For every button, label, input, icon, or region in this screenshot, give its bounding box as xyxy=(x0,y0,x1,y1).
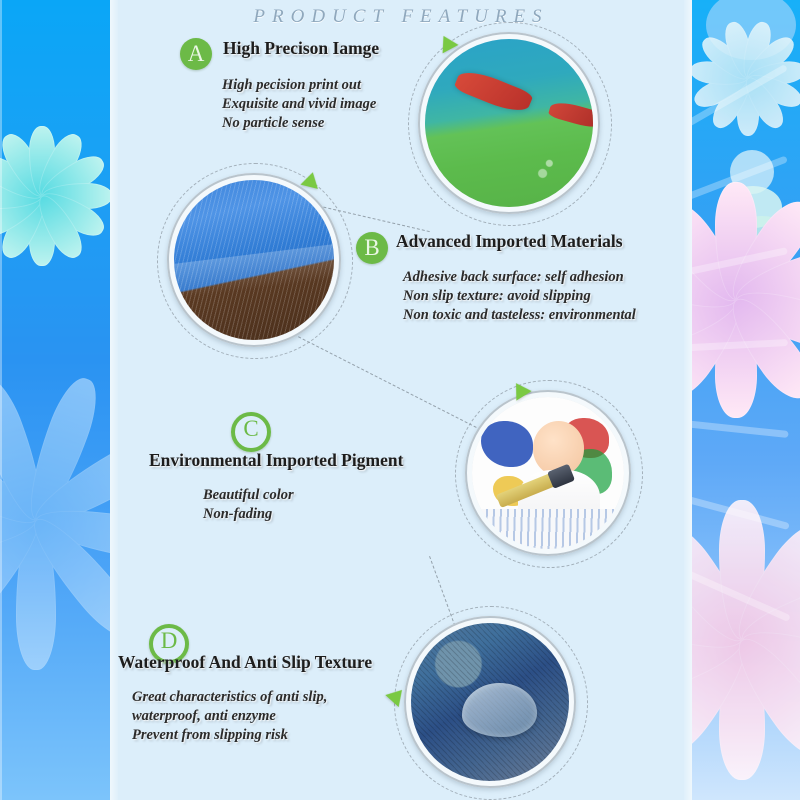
feature-line: Non toxic and tasteless: environmental xyxy=(403,306,636,325)
feature-line: Prevent from slipping risk xyxy=(132,726,327,745)
feature-heading-b: Advanced Imported Materials xyxy=(396,231,623,252)
product-features-infographic: PRODUCT FEATURES A High Precison Iamge H… xyxy=(0,0,800,800)
feature-line: waterproof, anti enzyme xyxy=(132,707,327,726)
feature-lines-d: Great characteristics of anti slip, wate… xyxy=(132,688,327,745)
page-title: PRODUCT FEATURES xyxy=(118,6,684,28)
badge-letter-c: C xyxy=(231,412,271,452)
right-decorative-strip xyxy=(692,0,800,800)
badge-letter-a: A xyxy=(180,38,212,70)
feature-lines-c: Beautiful color Non-fading xyxy=(203,486,294,524)
feature-line: Adhesive back surface: self adhesion xyxy=(403,268,636,287)
content-panel: PRODUCT FEATURES A High Precison Iamge H… xyxy=(118,0,684,800)
feature-line: No particle sense xyxy=(222,114,376,133)
feature-line: Non slip texture: avoid slipping xyxy=(403,287,636,306)
badge-letter-b: B xyxy=(356,232,388,264)
feature-lines-b: Adhesive back surface: self adhesion Non… xyxy=(403,268,636,325)
feature-heading-d: Waterproof And Anti Slip Texture xyxy=(118,652,372,673)
left-decorative-strip xyxy=(0,0,110,800)
feature-heading-c: Environmental Imported Pigment xyxy=(149,450,403,471)
feature-heading-a: High Precison Iamge xyxy=(223,38,379,59)
feature-line: Great characteristics of anti slip, xyxy=(132,688,327,707)
feature-line: High pecision print out xyxy=(222,76,376,95)
feature-line: Exquisite and vivid image xyxy=(222,95,376,114)
connector-b-to-c xyxy=(294,334,482,430)
feature-image-d xyxy=(404,616,576,788)
feature-image-b xyxy=(167,173,341,347)
feature-image-c xyxy=(465,390,631,556)
feature-line: Non-fading xyxy=(203,505,294,524)
feature-image-a xyxy=(418,32,600,214)
feature-line: Beautiful color xyxy=(203,486,294,505)
feature-lines-a: High pecision print out Exquisite and vi… xyxy=(222,76,376,133)
